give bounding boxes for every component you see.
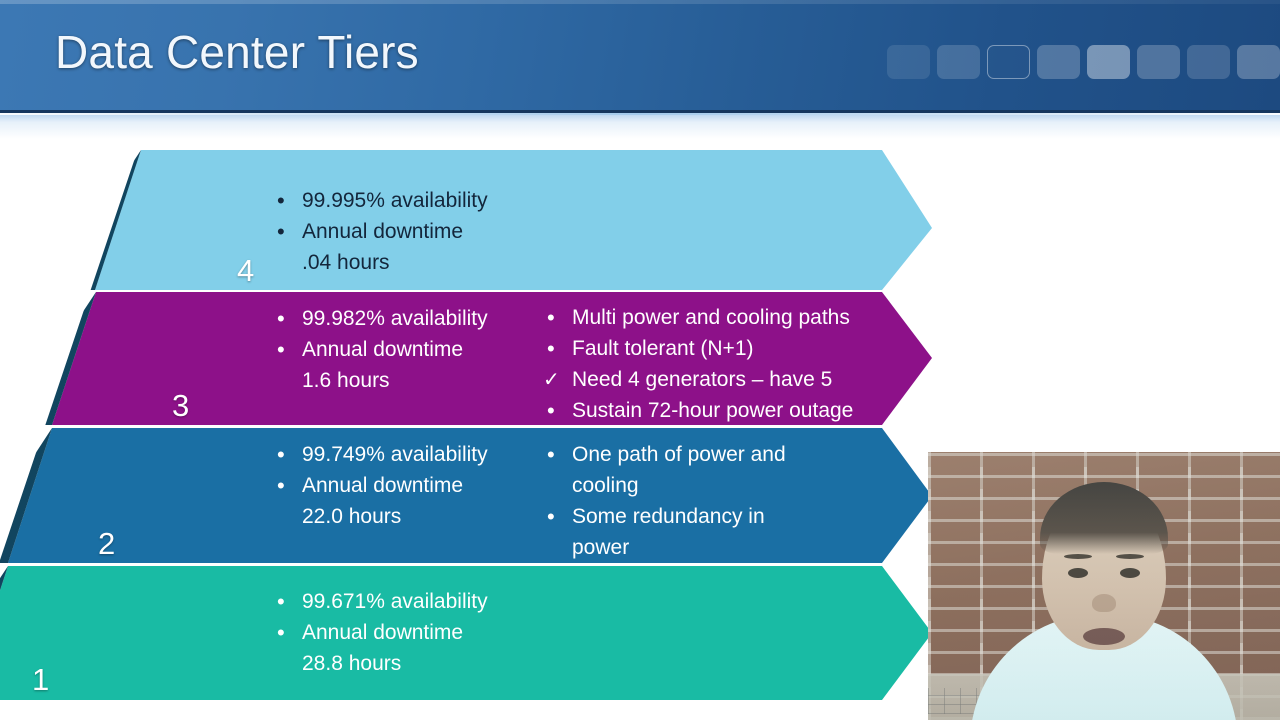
list-item: ✓Need 4 generators – have 5	[541, 365, 941, 395]
list-item: •Annual downtime	[271, 471, 536, 501]
header-decoration	[887, 45, 1280, 79]
deco-square-1	[887, 45, 930, 79]
tier-2-left-column: •99.749% availability •Annual downtime 2…	[271, 440, 536, 533]
tier-1-left-list: •99.671% availability •Annual downtime 2…	[271, 587, 536, 679]
webcam-color-tint	[928, 452, 1280, 720]
page-title: Data Center Tiers	[55, 23, 419, 81]
tier-2-left-list: •99.749% availability •Annual downtime 2…	[271, 440, 536, 532]
slide-header: Data Center Tiers	[0, 0, 1280, 113]
bullet-icon: •	[547, 502, 555, 532]
deco-square-4	[1037, 45, 1080, 79]
list-item: •Annual downtime	[271, 335, 536, 365]
bullet-icon: •	[277, 440, 285, 470]
bullet-icon: •	[547, 396, 555, 426]
list-item: •99.671% availability	[271, 587, 536, 617]
bullet-icon: •	[277, 587, 285, 617]
bullet-icon: •	[547, 303, 555, 333]
bullet-icon: •	[277, 304, 285, 334]
tier-4-left-column: •99.995% availability •Annual downtime .…	[271, 186, 531, 279]
deco-square-3	[987, 45, 1030, 79]
list-item: •99.982% availability	[271, 304, 536, 334]
list-item: power	[541, 533, 861, 563]
slide-canvas: Data Center Tiers	[0, 0, 1280, 720]
list-item: •Some redundancy in	[541, 502, 861, 532]
list-item: .04 hours	[271, 248, 531, 278]
tier-3-number: 3	[172, 390, 189, 421]
check-icon: ✓	[543, 365, 560, 395]
tier-4-left-list: •99.995% availability •Annual downtime .…	[271, 186, 531, 278]
bullet-icon: •	[277, 186, 285, 216]
list-item: 28.8 hours	[271, 649, 536, 679]
list-item: •Fault tolerant (N+1)	[541, 334, 941, 364]
bullet-icon: •	[277, 217, 285, 247]
deco-square-2	[937, 45, 980, 79]
list-item: •Annual downtime	[271, 618, 536, 648]
tier-pyramid: 4 3 2 1 •99.995% availability •Annual do…	[0, 140, 960, 720]
list-item: 22.0 hours	[271, 502, 536, 532]
tier-1-left-column: •99.671% availability •Annual downtime 2…	[271, 587, 536, 680]
header-underglow	[0, 113, 1280, 139]
header-top-highlight	[0, 0, 1280, 4]
list-item: •One path of power and	[541, 440, 861, 470]
list-item: cooling	[541, 471, 861, 501]
deco-square-7	[1187, 45, 1230, 79]
list-item: •Annual downtime	[271, 217, 531, 247]
deco-square-8	[1237, 45, 1280, 79]
tier-2-right-list: •One path of power and cooling •Some red…	[541, 440, 861, 563]
presenter-webcam-overlay[interactable]	[928, 452, 1280, 720]
tier-3-left-list: •99.982% availability •Annual downtime 1…	[271, 304, 536, 396]
list-item: •99.749% availability	[271, 440, 536, 470]
list-item: 1.6 hours	[271, 366, 536, 396]
tier-3-left-column: •99.982% availability •Annual downtime 1…	[271, 304, 536, 397]
deco-square-6	[1137, 45, 1180, 79]
deco-square-5	[1087, 45, 1130, 79]
tier-2-right-column: •One path of power and cooling •Some red…	[541, 440, 861, 564]
tier-3-right-list: •Multi power and cooling paths •Fault to…	[541, 303, 941, 426]
bullet-icon: •	[277, 335, 285, 365]
bullet-icon: •	[277, 618, 285, 648]
list-item: •99.995% availability	[271, 186, 531, 216]
bullet-icon: •	[277, 471, 285, 501]
list-item: •Sustain 72-hour power outage	[541, 396, 941, 426]
tier-1-number: 1	[32, 664, 49, 695]
bullet-icon: •	[547, 440, 555, 470]
bullet-icon: •	[547, 334, 555, 364]
list-item: •Multi power and cooling paths	[541, 303, 941, 333]
tier-4-number: 4	[237, 255, 254, 286]
tier-2-number: 2	[98, 528, 115, 559]
tier-3-right-column: •Multi power and cooling paths •Fault to…	[541, 303, 941, 427]
